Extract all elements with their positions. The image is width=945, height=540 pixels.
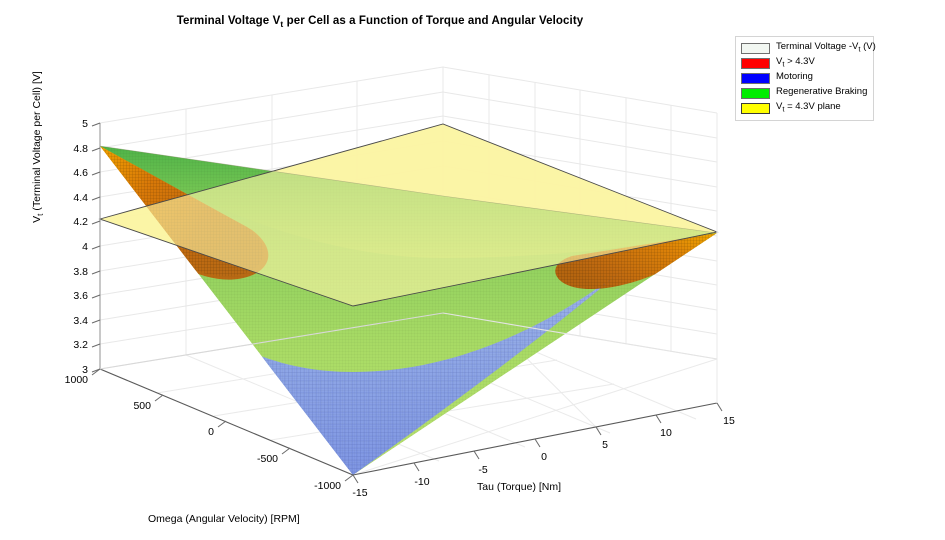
z-axis-ticks: 5 4.8 4.6 4.4 4.2 4 3.8 3.6 3.4 3.2 3 bbox=[73, 118, 100, 376]
legend-label-motoring: Motoring bbox=[776, 71, 813, 85]
legend-swatch-terminal-voltage bbox=[741, 43, 770, 54]
z-tick-3: 4.4 bbox=[73, 192, 88, 204]
legend-item-motoring[interactable]: Motoring bbox=[741, 71, 869, 85]
y-tick-1: 500 bbox=[133, 400, 151, 412]
y-tick-0: 1000 bbox=[65, 374, 89, 386]
legend-item-regen-braking[interactable]: Regenerative Braking bbox=[741, 86, 869, 100]
z-tick-8: 3.4 bbox=[73, 315, 88, 327]
y-tick-4: -1000 bbox=[314, 480, 341, 492]
legend-item-threshold-plane[interactable]: Vt = 4.3V plane bbox=[741, 101, 869, 115]
z-tick-5: 4 bbox=[82, 241, 88, 253]
x-tick-3: 0 bbox=[541, 451, 547, 463]
z-tick-4: 4.2 bbox=[73, 216, 88, 228]
x-tick-4: 5 bbox=[602, 439, 608, 451]
y-tick-3: -500 bbox=[257, 453, 278, 465]
legend-item-terminal-voltage[interactable]: Terminal Voltage -Vt (V) bbox=[741, 41, 869, 55]
legend-label-regen-braking: Regenerative Braking bbox=[776, 86, 867, 100]
z-tick-2: 4.6 bbox=[73, 167, 88, 179]
x-tick-2: -5 bbox=[478, 464, 487, 476]
legend-label-threshold-plane: Vt = 4.3V plane bbox=[776, 101, 841, 115]
x-tick-1: -10 bbox=[414, 476, 429, 488]
legend-item-overvoltage[interactable]: Vt > 4.3V bbox=[741, 56, 869, 70]
legend-label-terminal-voltage: Terminal Voltage -Vt (V) bbox=[776, 41, 876, 55]
legend-swatch-overvoltage bbox=[741, 58, 770, 69]
x-tick-0: -15 bbox=[352, 487, 367, 499]
z-tick-7: 3.6 bbox=[73, 290, 88, 302]
legend-swatch-regen-braking bbox=[741, 88, 770, 99]
legend-label-overvoltage: Vt > 4.3V bbox=[776, 56, 815, 70]
z-tick-9: 3.2 bbox=[73, 339, 88, 351]
legend-swatch-motoring bbox=[741, 73, 770, 84]
legend-swatch-threshold-plane bbox=[741, 103, 770, 114]
x-tick-5: 10 bbox=[660, 427, 672, 439]
legend[interactable]: Terminal Voltage -Vt (V) Vt > 4.3V Motor… bbox=[735, 36, 874, 121]
x-tick-6: 15 bbox=[723, 415, 735, 427]
z-tick-1: 4.8 bbox=[73, 143, 88, 155]
z-tick-0: 5 bbox=[82, 118, 88, 130]
figure-canvas: Terminal Voltage Vt per Cell as a Functi… bbox=[0, 0, 945, 540]
y-tick-2: 0 bbox=[208, 426, 214, 438]
z-tick-6: 3.8 bbox=[73, 266, 88, 278]
